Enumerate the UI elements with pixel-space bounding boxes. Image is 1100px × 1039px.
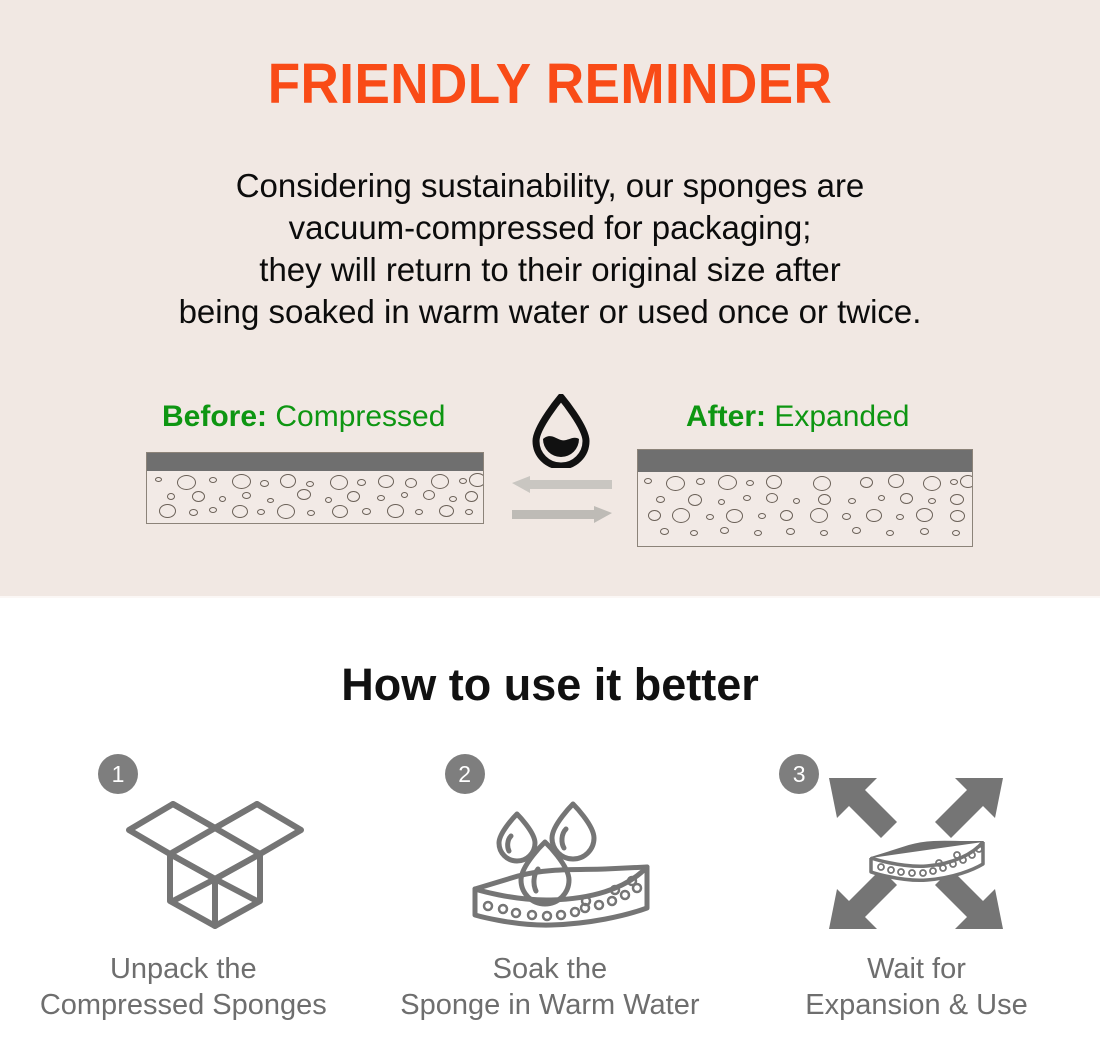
- after-label: After: Expanded: [686, 400, 909, 434]
- step-item-3: 3: [733, 746, 1100, 1036]
- before-label: Before: Compressed: [162, 400, 445, 434]
- friendly-reminder-panel: FRIENDLY REMINDER Considering sustainabi…: [0, 0, 1100, 596]
- open-box-icon: [0, 768, 399, 938]
- compressed-sponge-graphic: [146, 452, 484, 524]
- sponge-surface-band: [638, 450, 972, 472]
- step-caption-3-line-1: Wait for: [733, 951, 1100, 987]
- step-caption-1-line-2: Compressed Sponges: [0, 987, 367, 1023]
- sponge-surface-band: [147, 453, 483, 471]
- step-item-2: 2: [367, 746, 734, 1036]
- expanded-sponge-graphic: [637, 449, 973, 547]
- water-drops-on-sponge-icon: [367, 768, 744, 938]
- before-label-strong: Before:: [162, 400, 267, 433]
- intro-line-2: vacuum-compressed for packaging;: [0, 207, 1100, 249]
- step-caption-1: Unpack the Compressed Sponges: [0, 951, 367, 1023]
- intro-line-4: being soaked in warm water or used once …: [0, 291, 1100, 333]
- intro-paragraph: Considering sustainability, our sponges …: [0, 165, 1100, 333]
- steps-row: 1: [0, 746, 1100, 1036]
- howto-heading: How to use it better: [0, 662, 1100, 707]
- expanding-arrows-sponge-icon: [733, 768, 1100, 938]
- before-label-light: Compressed: [275, 400, 445, 433]
- step-caption-2-line-2: Sponge in Warm Water: [367, 987, 734, 1023]
- water-drop-icon: [528, 394, 594, 468]
- step-caption-3-line-2: Expansion & Use: [733, 987, 1100, 1023]
- how-to-use-panel: How to use it better 1: [0, 598, 1100, 1039]
- step-caption-3: Wait for Expansion & Use: [733, 951, 1100, 1023]
- intro-line-3: they will return to their original size …: [0, 249, 1100, 291]
- step-caption-1-line-1: Unpack the: [0, 951, 367, 987]
- page-title: FRIENDLY REMINDER: [39, 56, 1062, 113]
- step-caption-2-line-1: Soak the: [367, 951, 734, 987]
- step-item-1: 1: [0, 746, 367, 1036]
- after-label-strong: After:: [686, 400, 766, 433]
- step-caption-2: Soak the Sponge in Warm Water: [367, 951, 734, 1023]
- intro-line-1: Considering sustainability, our sponges …: [0, 165, 1100, 207]
- after-label-light: Expanded: [774, 400, 909, 433]
- two-way-exchange-arrows-icon: [512, 475, 612, 525]
- before-after-comparison: Before: Compressed After: Expanded: [0, 380, 1100, 570]
